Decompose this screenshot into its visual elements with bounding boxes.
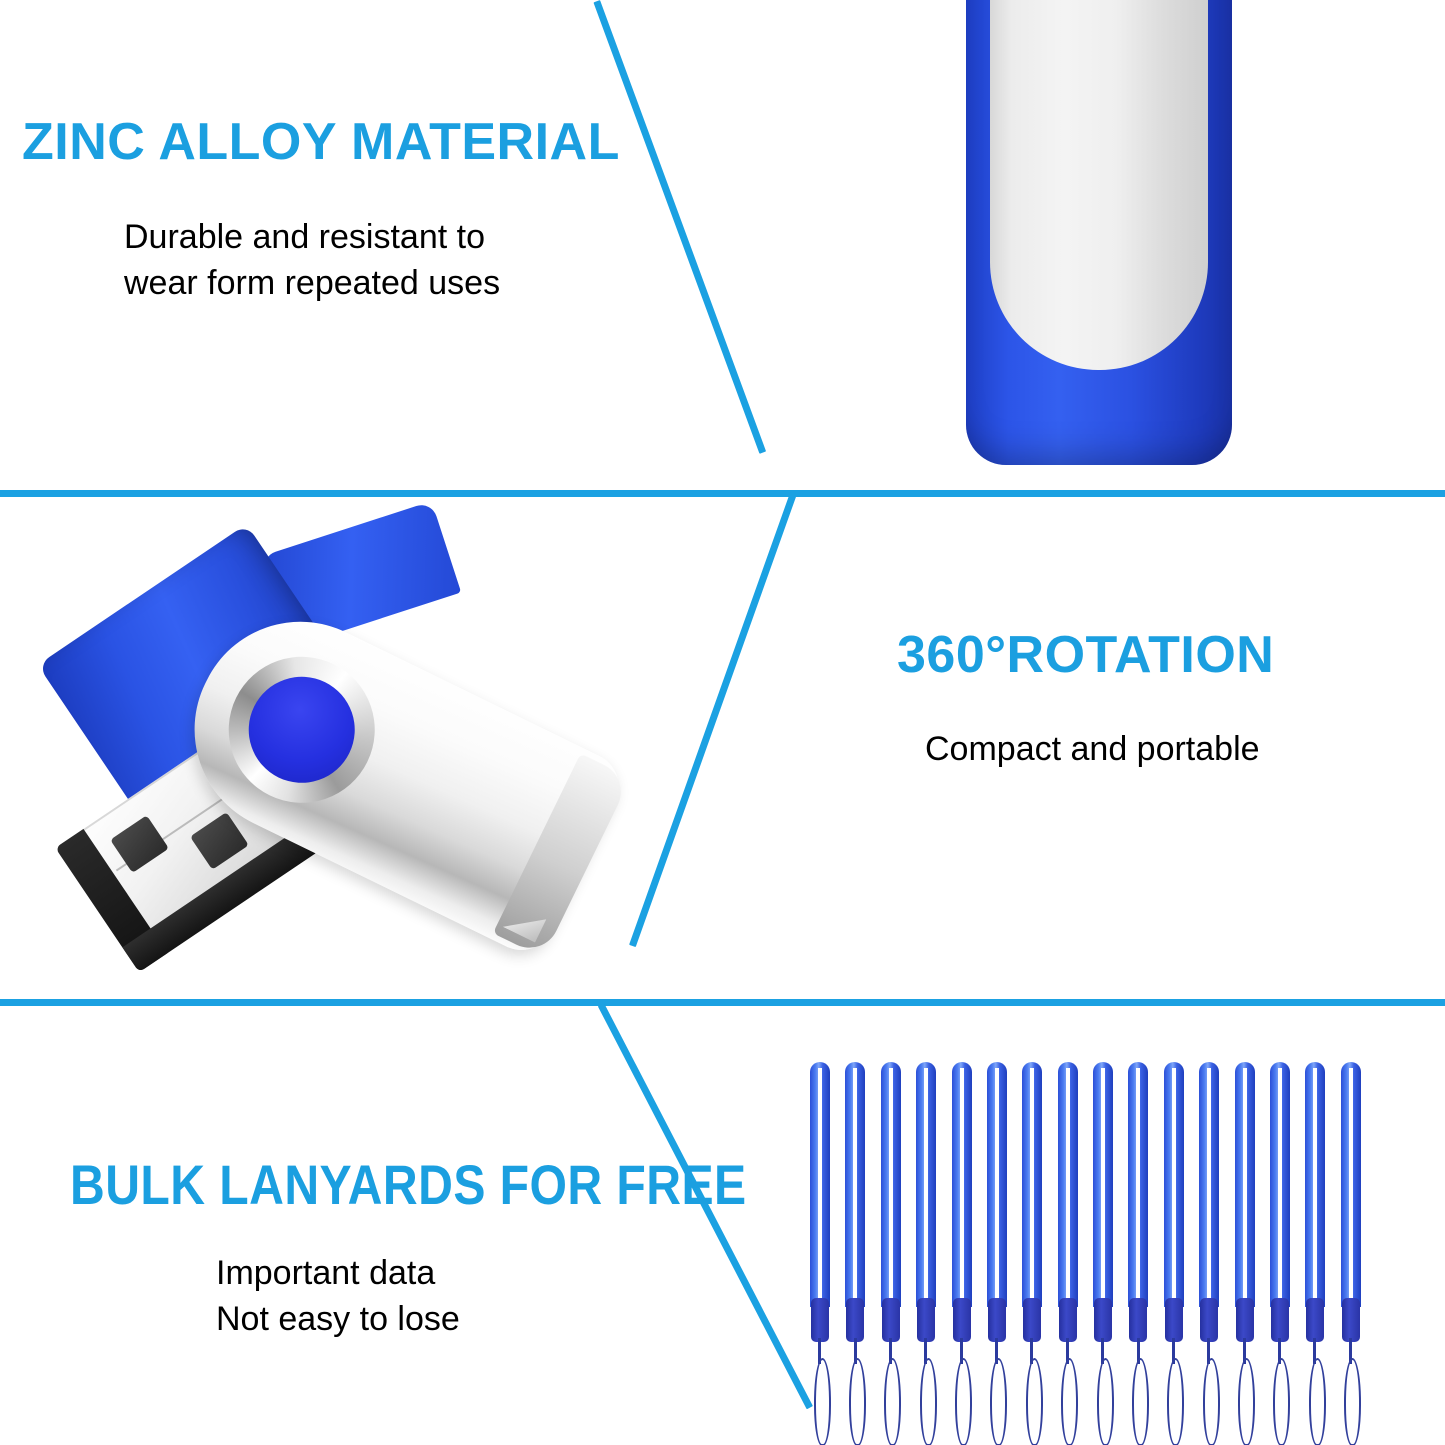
panel-body-rotation: Compact and portable [925, 726, 1260, 772]
infographic-canvas: ZINC ALLOY MATERIAL Durable and resistan… [0, 0, 1445, 1445]
lanyard-loop [1344, 1358, 1361, 1445]
lanyard-item [952, 1062, 972, 1420]
lanyard-clamp [917, 1298, 935, 1342]
lanyard-item [810, 1062, 830, 1420]
lanyard-strap-gap [889, 1068, 893, 1300]
body-line: Durable and resistant to [124, 214, 500, 260]
lanyard-strap-gap [960, 1068, 964, 1300]
lanyard-clamp [1059, 1298, 1077, 1342]
lanyard-clamp [846, 1298, 864, 1342]
lanyard-loop [920, 1358, 937, 1445]
lanyard-strap-gap [818, 1068, 822, 1300]
lanyard-clamp [953, 1298, 971, 1342]
lanyard-item [1270, 1062, 1290, 1420]
lanyard-loop [1273, 1358, 1290, 1445]
usb-swivel-drive-image [18, 548, 668, 940]
lanyard-item [1235, 1062, 1255, 1420]
lanyard-clamp [1271, 1298, 1289, 1342]
lanyard-strap-gap [1243, 1068, 1247, 1300]
lanyard-clamp [1023, 1298, 1041, 1342]
lanyard-strap-gap [1278, 1068, 1282, 1300]
lanyard-row-image [806, 1062, 1372, 1420]
lanyard-loop [884, 1358, 901, 1445]
divider-horizontal-bottom [0, 999, 1445, 1006]
lanyard-clamp [1129, 1298, 1147, 1342]
panel-body-lanyards: Important data Not easy to lose [216, 1250, 460, 1342]
lanyard-item [1128, 1062, 1148, 1420]
lanyard-loop [814, 1358, 831, 1445]
lanyard-item [1093, 1062, 1113, 1420]
lanyard-clamp [1200, 1298, 1218, 1342]
lanyard-strap-gap [1066, 1068, 1070, 1300]
body-line: wear form repeated uses [124, 260, 500, 306]
lanyard-clamp [1342, 1298, 1360, 1342]
usb-swivel-cover [990, 0, 1208, 370]
panel-heading-rotation: 360°ROTATION [897, 625, 1274, 685]
body-line: Not easy to lose [216, 1296, 460, 1342]
divider-diagonal-panel1 [593, 0, 766, 454]
lanyard-strap-gap [1207, 1068, 1211, 1300]
lanyard-clamp [1306, 1298, 1324, 1342]
lanyard-strap-gap [1030, 1068, 1034, 1300]
lanyard-loop [1309, 1358, 1326, 1445]
lanyard-loop [1238, 1358, 1255, 1445]
lanyard-item [987, 1062, 1007, 1420]
lanyard-item [1199, 1062, 1219, 1420]
lanyard-clamp [1094, 1298, 1112, 1342]
lanyard-item [916, 1062, 936, 1420]
lanyard-loop [1203, 1358, 1220, 1445]
lanyard-strap-gap [995, 1068, 999, 1300]
lanyard-strap-gap [924, 1068, 928, 1300]
lanyard-item [1164, 1062, 1184, 1420]
lanyard-clamp [988, 1298, 1006, 1342]
divider-horizontal-top [0, 490, 1445, 497]
lanyard-clamp [1236, 1298, 1254, 1342]
lanyard-clamp [882, 1298, 900, 1342]
lanyard-item [881, 1062, 901, 1420]
lanyard-loop [955, 1358, 972, 1445]
lanyard-strap-gap [1349, 1068, 1353, 1300]
lanyard-loop [1167, 1358, 1184, 1445]
lanyard-item [1341, 1062, 1361, 1420]
usb-swivel-button [231, 659, 373, 801]
panel-heading-lanyards: BULK LANYARDS FOR FREE [70, 1152, 747, 1217]
body-line: Important data [216, 1250, 460, 1296]
lanyard-item [1022, 1062, 1042, 1420]
lanyard-loop [849, 1358, 866, 1445]
lanyard-strap-gap [1313, 1068, 1317, 1300]
lanyard-strap-gap [1101, 1068, 1105, 1300]
lanyard-loop [1097, 1358, 1114, 1445]
lanyard-item [845, 1062, 865, 1420]
usb-swivel-closeup-image [966, 0, 1232, 465]
panel-heading-zinc-alloy: ZINC ALLOY MATERIAL [22, 112, 620, 172]
clip-button-ring [204, 632, 399, 827]
lanyard-item [1305, 1062, 1325, 1420]
lanyard-loop [1132, 1358, 1149, 1445]
lanyard-strap-gap [1136, 1068, 1140, 1300]
panel-body-zinc-alloy: Durable and resistant to wear form repea… [124, 214, 500, 306]
lanyard-item [1058, 1062, 1078, 1420]
lanyard-loop [990, 1358, 1007, 1445]
lanyard-loop [1026, 1358, 1043, 1445]
lanyard-strap-gap [1172, 1068, 1176, 1300]
lanyard-clamp [811, 1298, 829, 1342]
lanyard-clamp [1165, 1298, 1183, 1342]
lanyard-strap-gap [853, 1068, 857, 1300]
lanyard-loop [1061, 1358, 1078, 1445]
